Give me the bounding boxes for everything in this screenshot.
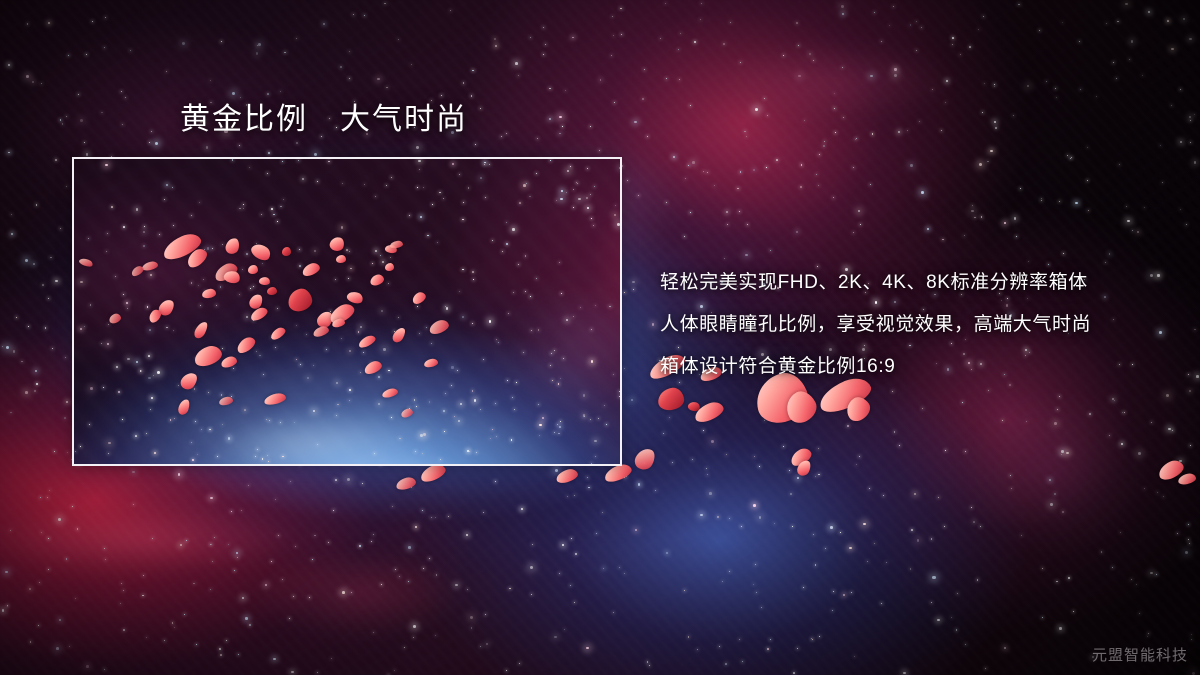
framed-dust-layer (74, 159, 620, 464)
body-line-2: 人体眼睛瞳孔比例，享受视觉效果，高端大气时尚 (660, 304, 1180, 346)
watermark-logo-text: 元盟智能科技 (1092, 646, 1188, 666)
slide-root: 黄金比例 大气时尚 轻松完美实现FHD、2K、4K、8K标准分辨率箱体 人体眼睛… (0, 0, 1200, 675)
framed-photo (72, 157, 622, 466)
body-line-3: 箱体设计符合黄金比例16:9 (660, 346, 1180, 388)
body-line-1: 轻松完美实现FHD、2K、4K、8K标准分辨率箱体 (660, 262, 1180, 304)
body-copy: 轻松完美实现FHD、2K、4K、8K标准分辨率箱体 人体眼睛瞳孔比例，享受视觉效… (660, 262, 1180, 388)
page-title: 黄金比例 大气时尚 (180, 101, 468, 139)
framed-photo-image (74, 159, 620, 464)
